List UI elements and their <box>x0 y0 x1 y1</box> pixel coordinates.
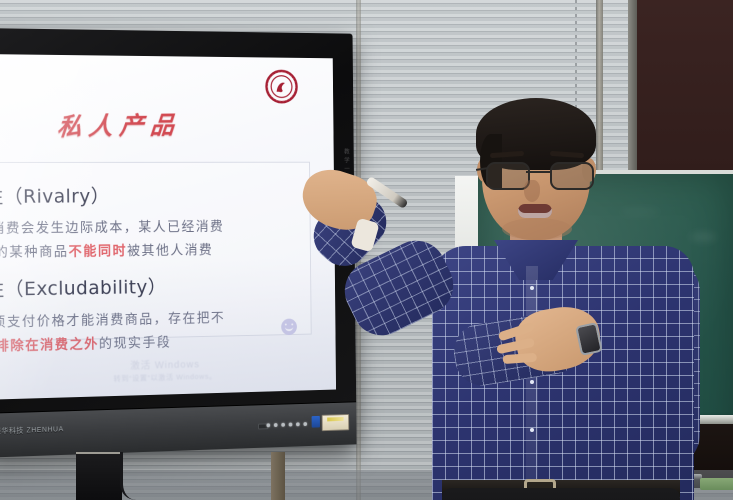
control-button-dot[interactable] <box>274 423 278 427</box>
lecturer-figure <box>398 80 733 500</box>
shirt-button <box>530 286 534 290</box>
heading-rivalry: 竞争性（Rivalry） <box>0 182 110 210</box>
control-button-dot[interactable] <box>289 423 293 427</box>
finger <box>503 353 538 364</box>
windows-activation-watermark: 激活 Windows 转到“设置”以激活 Windows。 <box>113 355 216 384</box>
control-button-dot[interactable] <box>296 422 300 426</box>
power-indicator-badge <box>312 416 320 428</box>
eyeglass-bridge <box>526 171 550 173</box>
rivalry-body-line-1: 更多人消费会发生边际成本，某人已经消费 <box>0 215 224 237</box>
energy-label-badge <box>322 414 350 431</box>
lecturer-trousers <box>442 488 680 500</box>
heading-excludability: 排他性（Excludability） <box>0 272 166 302</box>
excl-line2-post: 的现实手段 <box>99 335 172 351</box>
excl-line2-highlight: 排除在消费之外 <box>0 336 99 353</box>
podium-box <box>76 452 122 500</box>
classroom-lecture-screenshot: 私人产品 竞争性（Rivalry） 更多人消费会发生边际成本，某人已经消费 一定… <box>0 0 733 500</box>
presentation-slide: 私人产品 竞争性（Rivalry） 更多人消费会发生边际成本，某人已经消费 一定… <box>0 54 336 400</box>
rivalry-line2-pre: 一定数量的某种商品 <box>0 244 69 261</box>
power-cable <box>120 452 141 500</box>
university-seal-icon <box>265 69 299 104</box>
interactive-flat-panel[interactable]: 私人产品 竞争性（Rivalry） 更多人消费会发生边际成本，某人已经消费 一定… <box>0 28 357 458</box>
slide-title: 私人产品 <box>56 106 183 143</box>
lecturer-mouth <box>518 204 552 218</box>
lecturer-nose <box>524 180 540 202</box>
control-button-dot[interactable] <box>281 423 285 427</box>
excludability-body-line-2: 付价格者排除在消费之外的现实手段 <box>0 331 171 356</box>
panel-screen[interactable]: 私人产品 竞争性（Rivalry） 更多人消费会发生边际成本，某人已经消费 一定… <box>0 54 336 400</box>
rivalry-line2-highlight: 不能同时 <box>69 243 128 258</box>
control-button-dot[interactable] <box>266 423 270 427</box>
watermark-line-2: 转到“设置”以激活 Windows。 <box>113 371 216 385</box>
panel-control-buttons[interactable] <box>266 422 307 427</box>
rivalry-line1-text: 更多人消费会发生边际成本，某人已经消费 <box>0 219 224 236</box>
watermark-line-1: 激活 Windows <box>113 355 216 372</box>
shirt-button <box>530 428 534 432</box>
lecturer-hair <box>476 98 596 170</box>
eyeglass-lens <box>550 162 594 190</box>
control-button-dot[interactable] <box>303 422 307 426</box>
rivalry-line2-post: 被其他人消费 <box>127 242 213 258</box>
panel-brand-label: 振华科技 ZHENHUA <box>0 424 64 436</box>
rivalry-body-line-2: 一定数量的某种商品不能同时被其他人消费 <box>0 239 213 262</box>
lecturer-chin <box>502 218 572 240</box>
panel-stand-post <box>271 452 285 500</box>
eyeglasses-icon <box>484 162 594 186</box>
shirt-button <box>530 380 534 384</box>
